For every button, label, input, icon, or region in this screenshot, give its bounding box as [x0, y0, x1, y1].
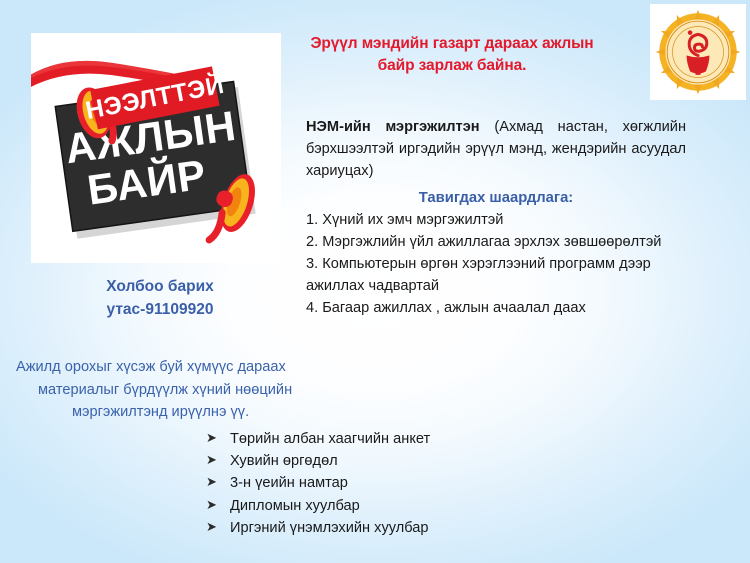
- document-item-label: Төрийн албан хаагчийн анкет: [230, 431, 430, 447]
- instructions-line-3: мэргэжилтэнд ирүүлнэ үү.: [10, 401, 410, 424]
- arrow-bullet-icon: ➤: [206, 517, 217, 537]
- job-description: НЭМ-ийн мэргэжилтэн (Ахмад настан, хөгжл…: [306, 116, 686, 183]
- contact-label: Холбоо барих: [60, 275, 260, 298]
- document-item-label: 3-н үеийн намтар: [230, 475, 348, 491]
- document-item-label: Хувийн өргөдөл: [230, 453, 338, 469]
- job-poster-image: АЖЛЫН БАЙР: [31, 33, 281, 263]
- document-item: ➤ Иргэний үнэмлэхийн хуулбар: [206, 517, 430, 539]
- contact-phone: утас-91109920: [60, 298, 260, 321]
- job-role-label: НЭМ-ийн мэргэжилтэн: [306, 119, 494, 135]
- document-item: ➤ 3-н үеийн намтар: [206, 472, 430, 494]
- slide-canvas: АЖЛЫН БАЙР: [0, 0, 750, 563]
- arrow-bullet-icon: ➤: [206, 472, 217, 492]
- page-title: Эрүүл мэндийн газарт дараах ажлын байр з…: [256, 33, 648, 78]
- document-item: ➤ Дипломын хуулбар: [206, 495, 430, 517]
- arrow-bullet-icon: ➤: [206, 450, 217, 470]
- poster-artwork: АЖЛЫН БАЙР: [31, 33, 281, 263]
- requirements-list: 1. Хүний их эмч мэргэжилтэй 2. Мэргэжлий…: [306, 210, 698, 319]
- document-item: ➤ Төрийн албан хаагчийн анкет: [206, 428, 430, 450]
- document-item-label: Дипломын хуулбар: [230, 498, 360, 514]
- health-department-emblem-icon: [654, 8, 742, 96]
- document-item-label: Иргэний үнэмлэхийн хуулбар: [230, 520, 428, 536]
- contact-block: Холбоо барих утас-91109920: [60, 275, 260, 322]
- requirement-item: 3. Компьютерын өргөн хэрэглээний програм…: [306, 254, 698, 298]
- arrow-bullet-icon: ➤: [206, 495, 217, 515]
- application-instructions: Ажилд орохыг хүсэж буй хүмүүс дараах мат…: [10, 356, 410, 424]
- arrow-bullet-icon: ➤: [206, 428, 217, 448]
- requirement-item: 1. Хүний их эмч мэргэжилтэй: [306, 210, 698, 232]
- requirement-item: 2. Мэргэжлийн үйл ажиллагаа эрхлэх зөвшө…: [306, 232, 698, 254]
- required-documents-list: ➤ Төрийн албан хаагчийн анкет ➤ Хувийн ө…: [206, 428, 430, 539]
- title-line-1: Эрүүл мэндийн газарт дараах ажлын: [256, 33, 648, 55]
- requirement-item: 4. Багаар ажиллах , ажлын ачаалал даах: [306, 298, 698, 320]
- document-item: ➤ Хувийн өргөдөл: [206, 450, 430, 472]
- organization-emblem: [650, 4, 746, 100]
- instructions-line-1: Ажилд орохыг хүсэж буй хүмүүс дараах: [10, 356, 410, 379]
- title-line-2: байр зарлаж байна.: [256, 55, 648, 77]
- requirements-heading: Тавигдах шаардлага:: [306, 190, 686, 206]
- instructions-line-2: материалыг бүрдүүлж хүний нөөцийн: [10, 379, 410, 402]
